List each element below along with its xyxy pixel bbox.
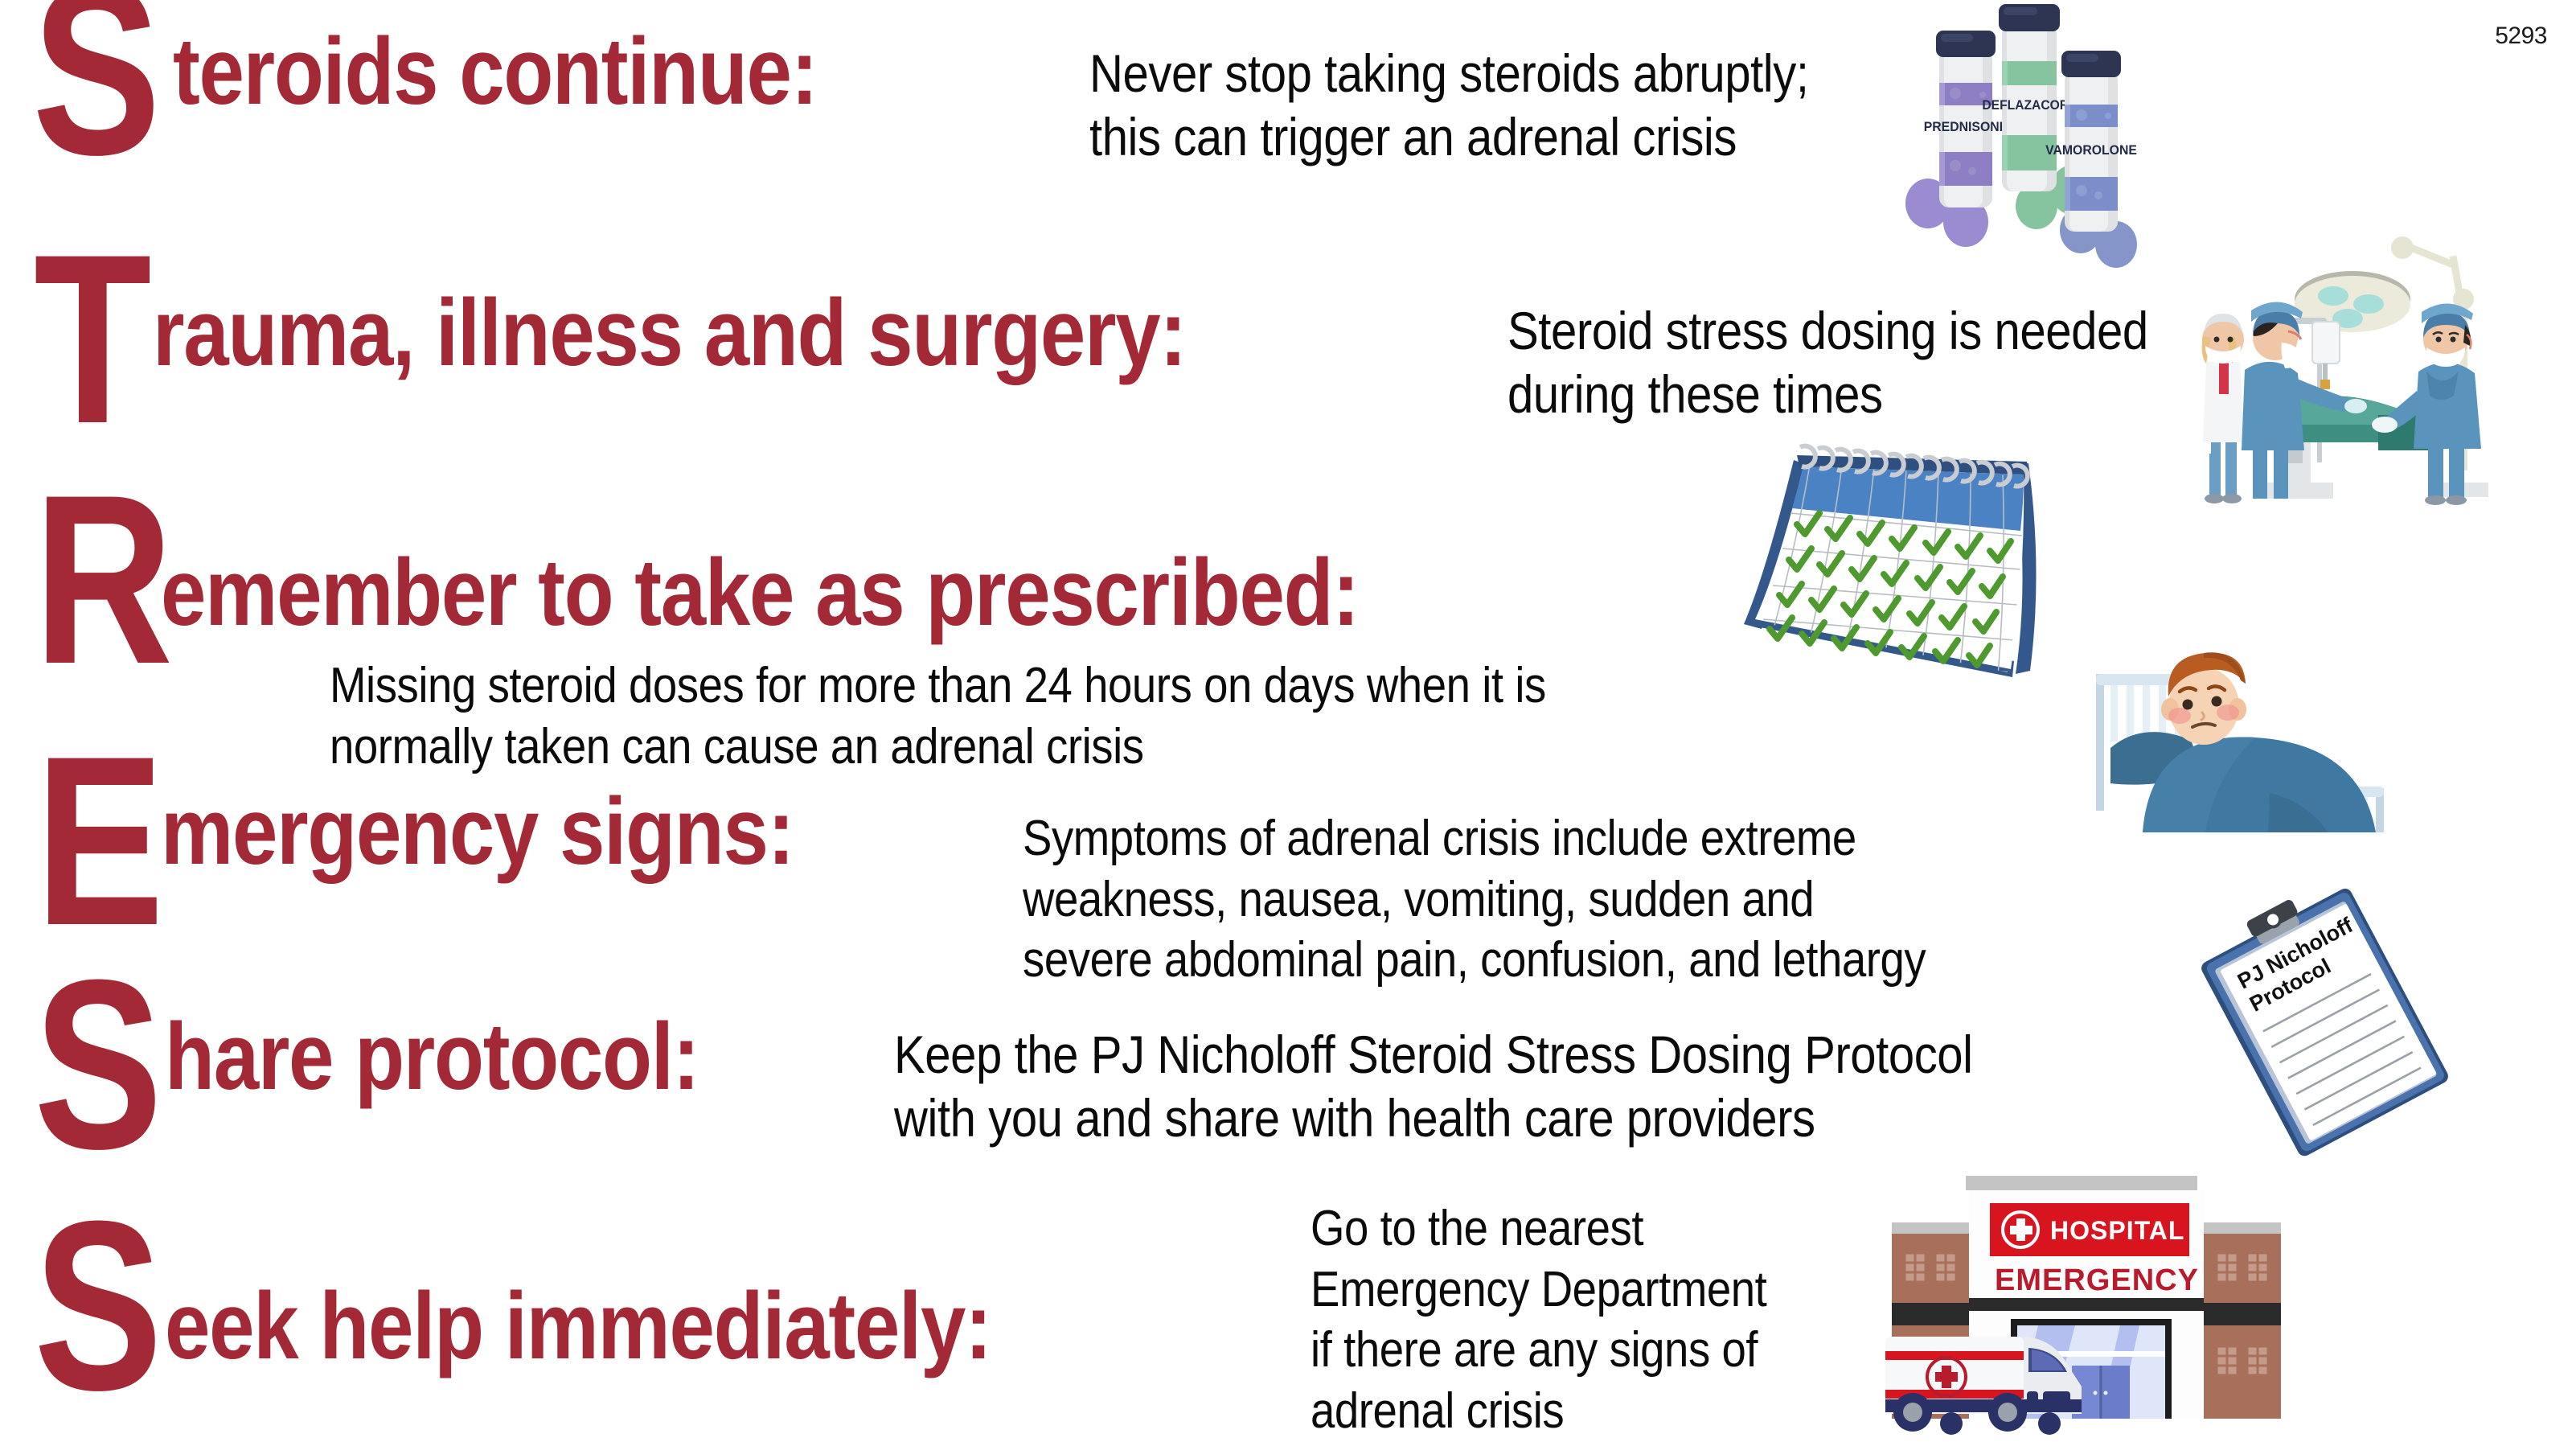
doctor-figure <box>2202 314 2245 503</box>
svg-text:DEFLAZACORT: DEFLAZACORT <box>1982 97 2076 113</box>
emergency-sign: EMERGENCY <box>1995 1263 2199 1297</box>
drop-cap-letter: S <box>34 980 154 1148</box>
hospital-sign: HOSPITAL <box>1990 1203 2189 1256</box>
row-steroids-body: Never stop taking steroids abruptly; thi… <box>1089 42 1907 169</box>
row-trauma-body: Steroid stress dosing is needed during t… <box>1507 299 2235 426</box>
headline-text: emember to take as prescribed: <box>161 545 1359 640</box>
sick-child-in-bed-illustration <box>2054 635 2400 832</box>
child-head <box>2161 652 2246 745</box>
ambulance-icon <box>1885 1337 2082 1435</box>
row-steroids-headline: teroids continue: <box>173 24 922 119</box>
body-text: Symptoms of adrenal crisis include extre… <box>1023 808 1926 991</box>
drop-cap-letter: T <box>34 254 144 423</box>
row-trauma-headline: rauma, illness and surgery: <box>153 286 1354 380</box>
row-share-headline: hare protocol: <box>165 1009 786 1104</box>
headline-text: eek help immediately: <box>165 1279 991 1374</box>
body-text: Keep the PJ Nicholoff Steroid Stress Dos… <box>894 1023 1973 1150</box>
vial-deflazacort: DEFLAZACORT <box>1982 4 2076 191</box>
surgery-team-illustration <box>2195 241 2549 507</box>
row-emergency-body: Symptoms of adrenal crisis include extre… <box>1023 808 2049 991</box>
row-emergency-headline: mergency signs: <box>161 784 896 879</box>
calendar-illustration <box>1741 418 2054 676</box>
hospital-right-wing <box>2204 1222 2281 1419</box>
page-number: 5293 <box>2495 23 2547 50</box>
nurse-figure <box>2372 303 2481 505</box>
drop-cap-letter: S <box>34 1221 154 1390</box>
row-seek-headline: eek help immediately: <box>165 1279 1126 1374</box>
headline-text: hare protocol: <box>165 1009 699 1104</box>
body-text: Go to the nearest Emergency Department i… <box>1311 1198 1766 1442</box>
row-remember-body: Missing steroid doses for more than 24 h… <box>330 655 1712 777</box>
row-seek-body: Go to the nearest Emergency Department i… <box>1311 1198 1829 1442</box>
clipboard-protocol-illustration: PJ Nicholoff Protocol <box>2183 889 2480 1154</box>
svg-text:PREDNISONE: PREDNISONE <box>1924 120 2008 135</box>
row-steroids-continue: S <box>32 0 183 154</box>
row-remember-headline: emember to take as prescribed: <box>161 545 1553 640</box>
body-text: Missing steroid doses for more than 24 h… <box>330 655 1546 777</box>
hospital-emergency-illustration: HOSPITAL EMERGENCY <box>1885 1158 2303 1440</box>
body-text: Never stop taking steroids abruptly; thi… <box>1089 42 1809 169</box>
drop-cap-letter: S <box>32 0 153 154</box>
svg-text:HOSPITAL: HOSPITAL <box>2050 1216 2184 1245</box>
drop-cap-letter: R <box>34 495 166 663</box>
row-share-dropcap: S <box>34 980 185 1148</box>
medication-vials-illustration: PREDNISONE DEFLAZACORT <box>1905 6 2251 248</box>
row-share-body: Keep the PJ Nicholoff Steroid Stress Dos… <box>894 1023 2120 1150</box>
drop-cap-letter: E <box>35 756 156 925</box>
headline-text: teroids continue: <box>173 24 817 119</box>
row-trauma-dropcap: T <box>34 254 171 423</box>
headline-text: rauma, illness and surgery: <box>153 286 1186 380</box>
svg-text:VAMOROLONE: VAMOROLONE <box>2045 143 2137 158</box>
row-seek-dropcap: S <box>34 1221 185 1390</box>
headline-text: mergency signs: <box>161 784 794 879</box>
body-text: Steroid stress dosing is needed during t… <box>1507 299 2148 426</box>
